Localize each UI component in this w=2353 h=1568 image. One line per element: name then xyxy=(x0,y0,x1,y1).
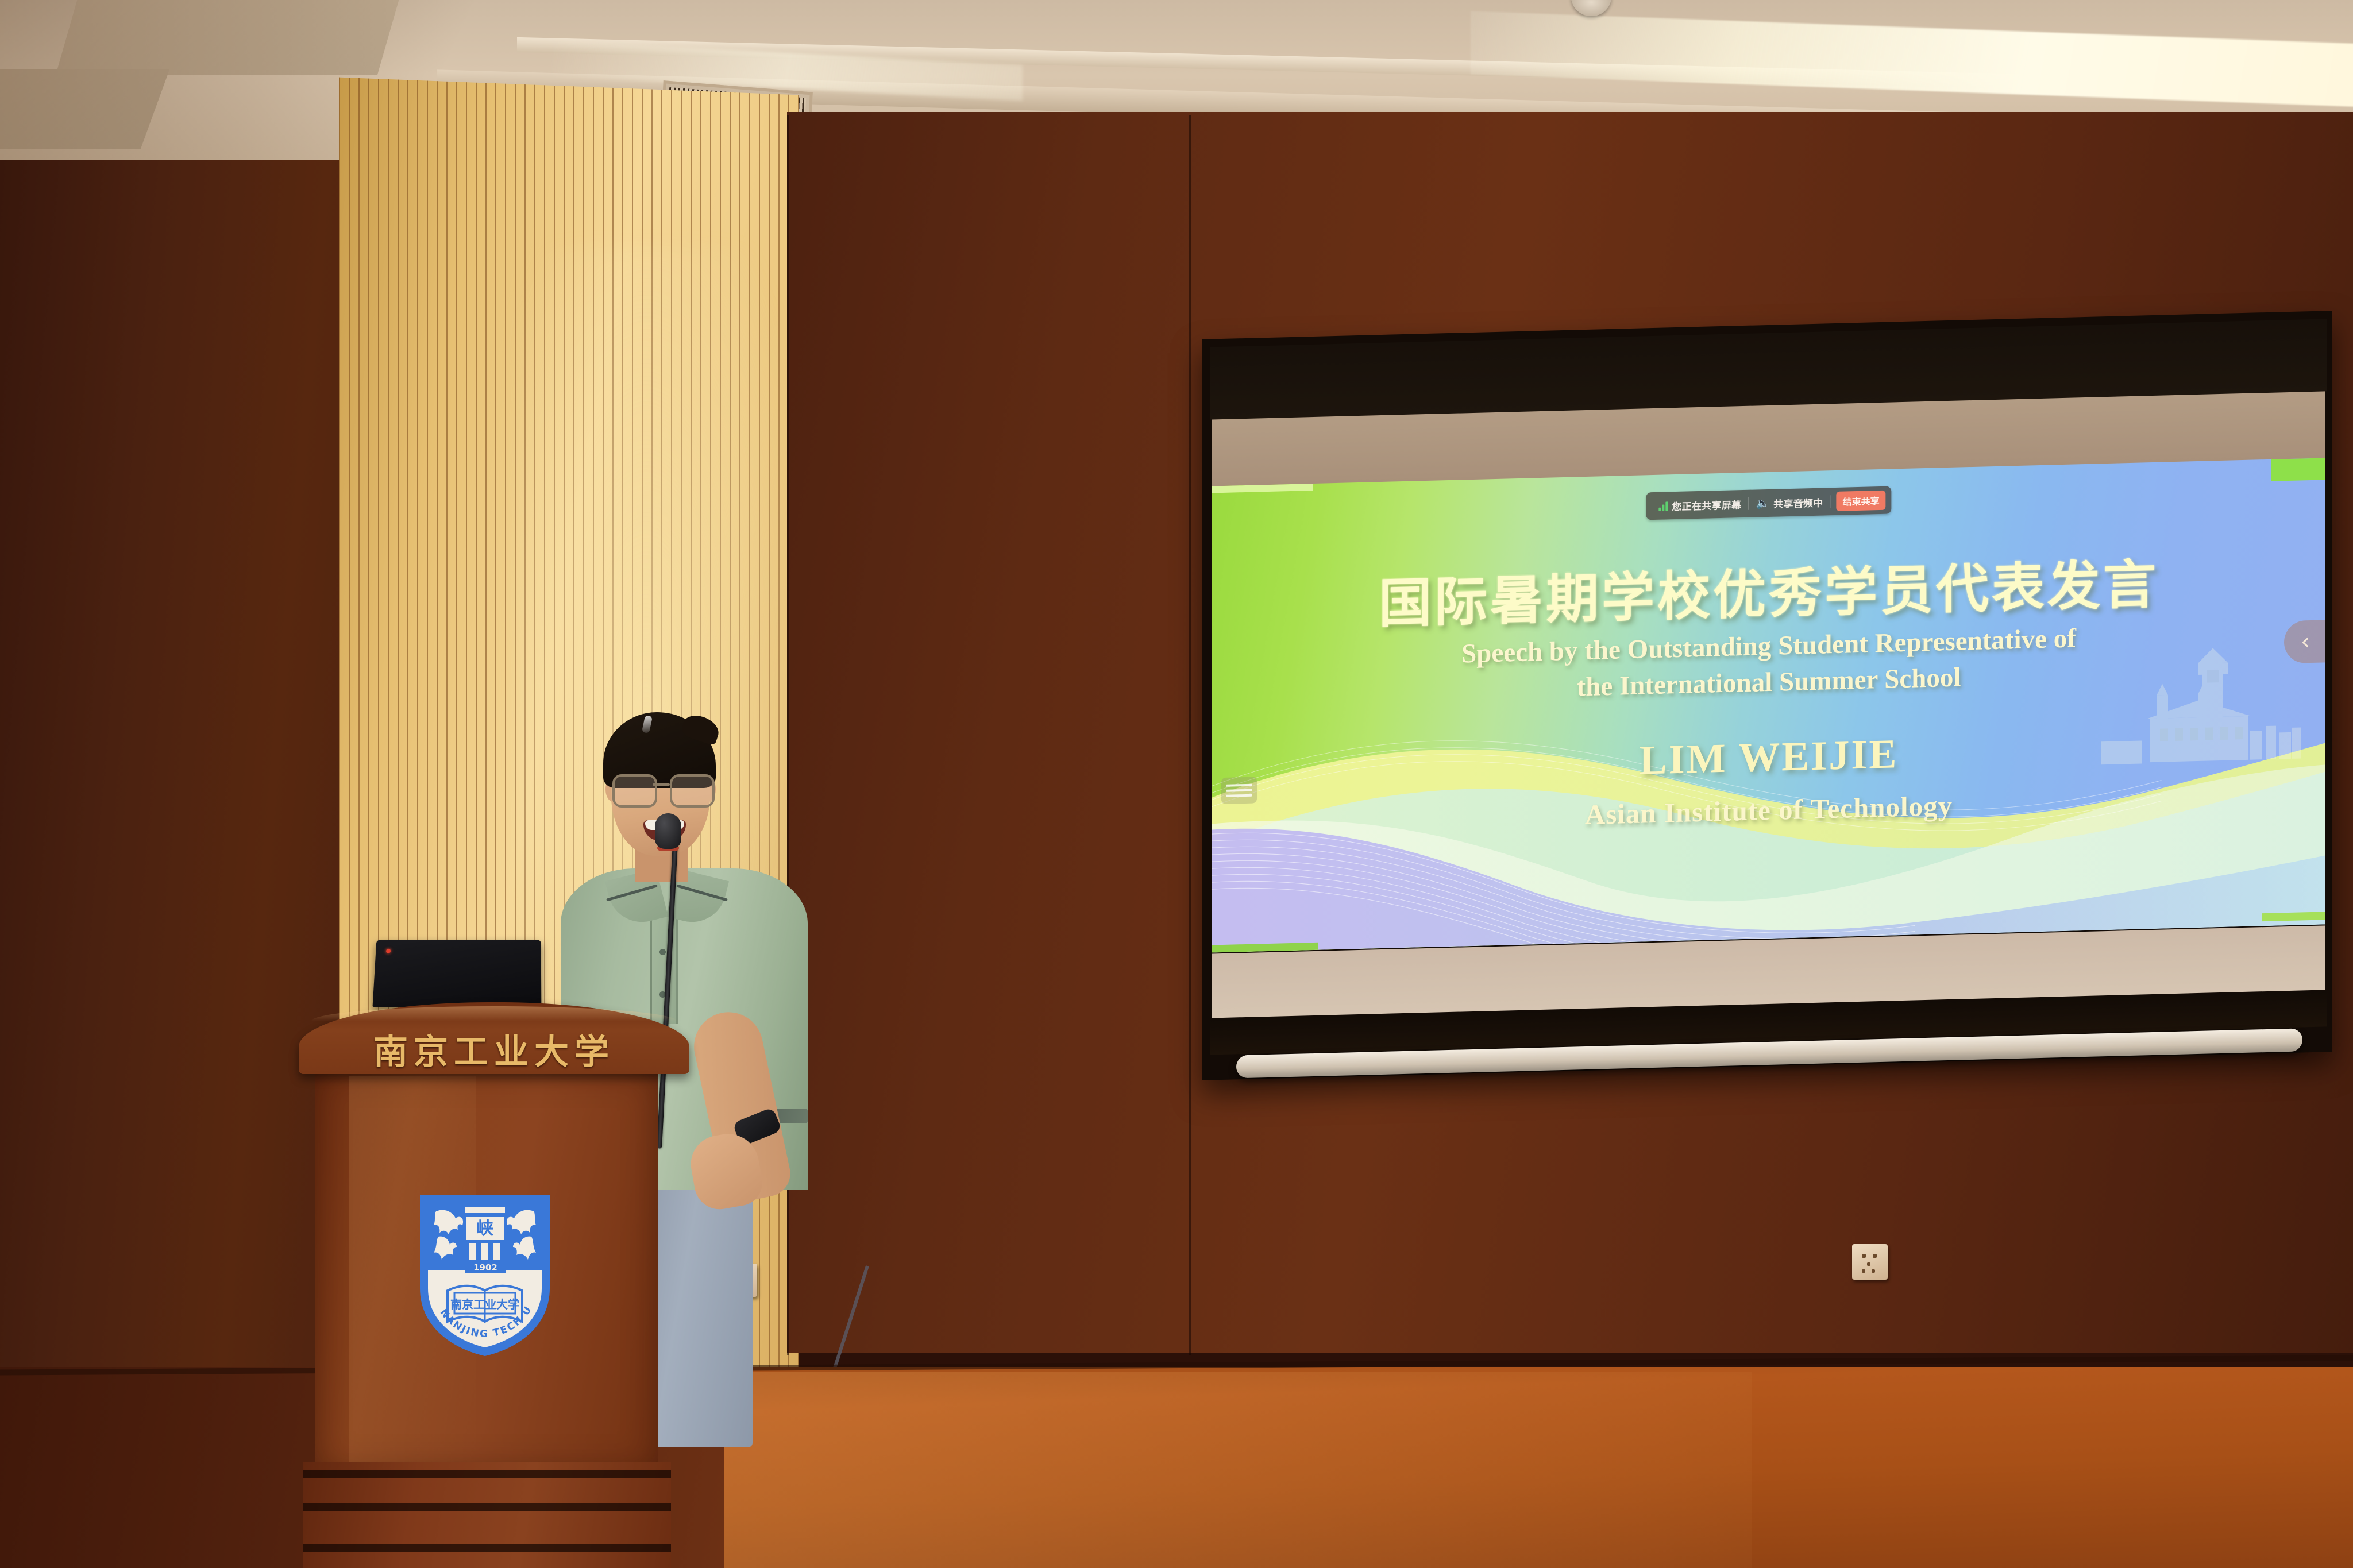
svg-text:1902: 1902 xyxy=(473,1262,497,1273)
chevron-left-icon[interactable]: ‹ xyxy=(2284,620,2325,663)
share-status-label: 您正在共享屏幕 xyxy=(1672,497,1741,513)
end-share-button[interactable]: 结束共享 xyxy=(1837,491,1886,511)
lectern-engraved-name: 南京工业大学 xyxy=(299,1024,689,1074)
lens-left xyxy=(612,774,657,808)
signal-bars-icon xyxy=(1658,501,1668,511)
projector-screen: 您正在共享屏幕 🔈 共享音频中 结束共享 国际暑期学校优秀学员代表发言 Spee… xyxy=(1202,311,2332,1080)
handheld-microphone xyxy=(655,813,681,849)
toolbar-divider xyxy=(1830,495,1831,508)
glasses-bridge xyxy=(653,783,670,786)
stage-floor-reflection xyxy=(718,1372,1752,1568)
wall-seam xyxy=(1189,115,1191,1355)
share-audio-segment[interactable]: 🔈 共享音频中 xyxy=(1749,495,1830,511)
svg-text:峡: 峡 xyxy=(476,1219,493,1239)
share-audio-label: 共享音频中 xyxy=(1773,495,1823,510)
presentation-slide: 您正在共享屏幕 🔈 共享音频中 结束共享 国际暑期学校优秀学员代表发言 Spee… xyxy=(1212,458,2325,952)
screenshot-root: 您正在共享屏幕 🔈 共享音频中 结束共享 国际暑期学校优秀学员代表发言 Spee… xyxy=(0,0,2353,1568)
lectern-base-groove xyxy=(303,1544,671,1552)
cove-light xyxy=(1471,11,2353,107)
slide-edge-sliver-right xyxy=(2271,458,2325,481)
slide-edge-sliver-bottom-right xyxy=(2262,912,2325,921)
laptop-screen[interactable] xyxy=(372,940,541,1007)
speaker-icon: 🔈 xyxy=(1756,497,1769,509)
nanjing-tech-university-crest: 峡 1902 南京工业大学 NANJING TECH UNIV xyxy=(416,1192,553,1358)
screen-share-toolbar[interactable]: 您正在共享屏幕 🔈 共享音频中 结束共享 xyxy=(1646,486,1891,520)
wall-dark-left xyxy=(0,160,345,1568)
lectern: 南京工业大学 峡 1902 xyxy=(299,1002,689,1568)
lectern-base-groove xyxy=(303,1470,671,1478)
lens-right xyxy=(670,774,715,808)
list-menu-icon[interactable] xyxy=(1221,777,1257,804)
svg-text:南京工业大学: 南京工业大学 xyxy=(450,1297,519,1311)
share-status-segment: 您正在共享屏幕 xyxy=(1652,496,1748,513)
lectern-header-highlight xyxy=(311,1006,677,1021)
laptop-power-led xyxy=(386,949,391,953)
lectern-base xyxy=(303,1462,671,1568)
smoke-detector-icon xyxy=(1571,0,1611,16)
eyeglasses xyxy=(612,774,710,804)
shirt-button xyxy=(659,949,666,955)
wall-outlet-panel[interactable] xyxy=(1852,1244,1888,1280)
lectern-base-groove xyxy=(303,1503,671,1511)
